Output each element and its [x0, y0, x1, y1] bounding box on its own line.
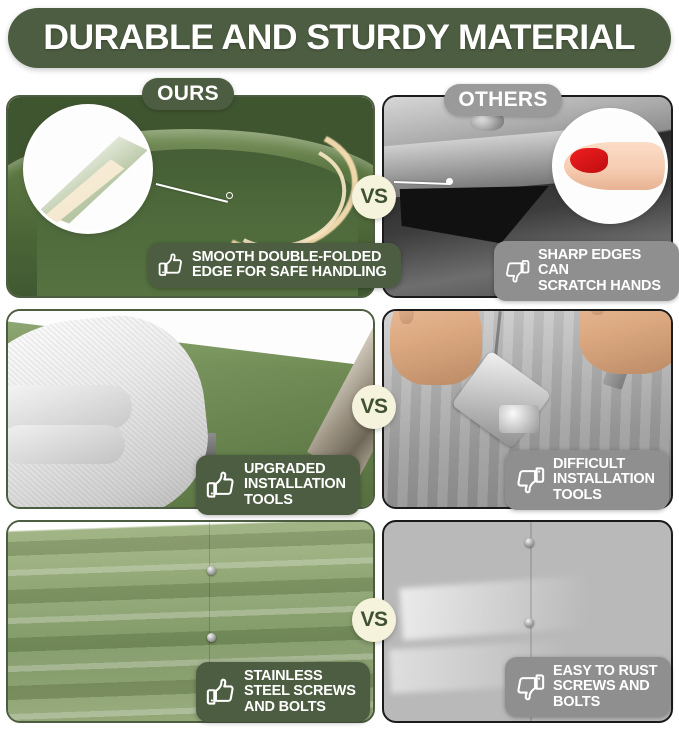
column-tag-ours: OURS: [142, 78, 234, 110]
vs-badge-row-2: VS: [352, 385, 396, 429]
thumbs-up-icon: [206, 470, 236, 500]
magnifier-callout-folded-edge: [26, 107, 150, 231]
magnifier-callout-cut-finger: [555, 111, 665, 221]
screw-icon: [525, 618, 534, 627]
vs-badge-row-1: VS: [352, 175, 396, 219]
thumbs-down-icon: [515, 672, 545, 702]
caption-ours-row-2: UPGRADED INSTALLATION TOOLS: [196, 455, 360, 515]
caption-text: DIFFICULT INSTALLATION TOOLS: [553, 457, 655, 503]
thumbs-up-icon: [206, 677, 236, 707]
page-title: DURABLE AND STURDY MATERIAL: [44, 18, 636, 58]
caption-text: SMOOTH DOUBLE-FOLDED EDGE FOR SAFE HANDL…: [192, 250, 387, 281]
caption-ours-row-1: SMOOTH DOUBLE-FOLDED EDGE FOR SAFE HANDL…: [148, 243, 401, 288]
screw-icon: [525, 538, 534, 547]
thumbs-down-icon: [504, 258, 530, 284]
caption-text: EASY TO RUST SCREWS AND BOLTS: [553, 664, 657, 710]
caption-others-row-2: DIFFICULT INSTALLATION TOOLS: [505, 450, 669, 510]
header-banner: DURABLE AND STURDY MATERIAL: [8, 8, 671, 68]
thumbs-down-icon: [515, 465, 545, 495]
vs-badge-row-3: VS: [352, 598, 396, 642]
caption-text: SHARP EDGES CAN SCRATCH HANDS: [538, 248, 665, 294]
screw-icon: [207, 566, 216, 575]
caption-text: UPGRADED INSTALLATION TOOLS: [244, 462, 346, 508]
thumbs-up-icon: [158, 252, 184, 278]
column-tag-others: OTHERS: [444, 84, 562, 116]
caption-others-row-3: EASY TO RUST SCREWS AND BOLTS: [505, 657, 671, 717]
caption-ours-row-3: STAINLESS STEEL SCREWS AND BOLTS: [196, 662, 370, 722]
caption-text: STAINLESS STEEL SCREWS AND BOLTS: [244, 669, 356, 715]
caption-others-row-1: SHARP EDGES CAN SCRATCH HANDS: [494, 241, 679, 301]
